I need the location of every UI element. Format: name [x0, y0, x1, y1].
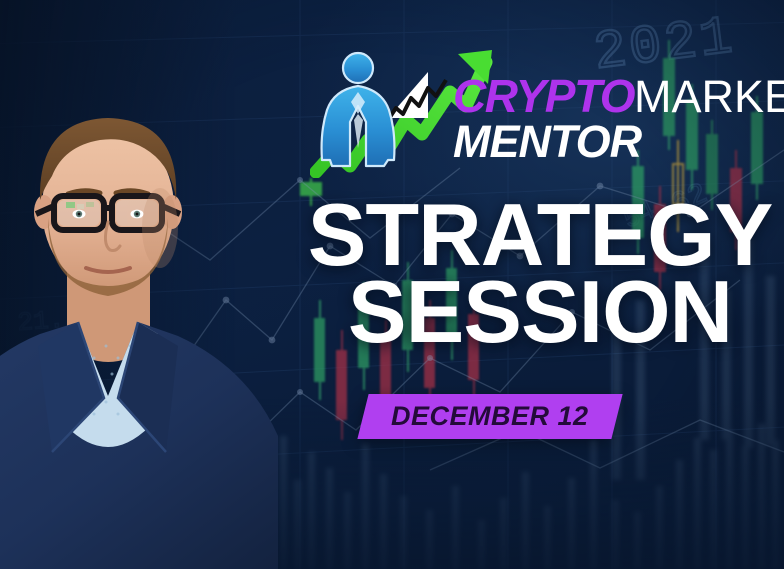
date-banner-label: DECEMBER 12 [391, 401, 589, 432]
date-banner: DECEMBER 12 [357, 394, 622, 439]
headline-line-2: SESSION [300, 273, 780, 350]
promo-graphic-canvas: 2021 21. 62 54 [0, 0, 784, 569]
headline-block: STRATEGY SESSION [300, 196, 780, 351]
brand-word-market: MARKET [634, 71, 784, 122]
brand-wordmark: CRYPTOMARKET MENTOR [453, 75, 784, 164]
presenter-photo [0, 96, 282, 569]
brand-logo: CRYPTOMARKET MENTOR [310, 48, 780, 178]
brand-word-crypto: CRYPTO [453, 70, 634, 122]
brand-word-mentor: MENTOR [453, 121, 784, 164]
